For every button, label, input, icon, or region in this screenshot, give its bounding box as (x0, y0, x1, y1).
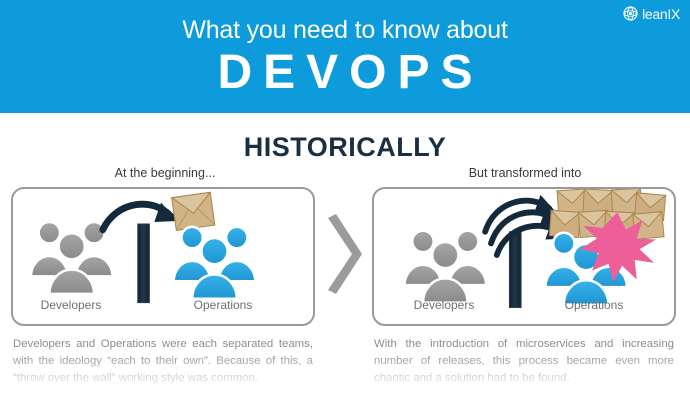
chevron-right-icon (326, 212, 370, 296)
historically-after-panel: Developers Operations (372, 187, 676, 326)
header-band: leanIX What you need to know about DEVOP… (0, 0, 690, 113)
devops-infographic-slide: leanIX What you need to know about DEVOP… (0, 0, 690, 401)
after-developers-label: Developers (394, 298, 494, 312)
operations-figures (174, 227, 256, 299)
after-operations-label: Operations (539, 298, 649, 312)
historically-before-panel: Developers Operations (11, 187, 315, 326)
before-operations-label: Operations (168, 298, 278, 312)
before-caption: At the beginning... (10, 167, 320, 180)
before-developers-label: Developers (21, 298, 121, 312)
header-title: DEVOPS (0, 48, 690, 98)
section-title: HISTORICALLY (0, 134, 690, 161)
wall-bar (509, 232, 521, 308)
header-subtitle: What you need to know about (0, 18, 690, 43)
developers-figures (405, 231, 487, 303)
developers-figures (31, 222, 113, 294)
envelope-icon (172, 192, 215, 230)
before-paragraph: Developers and Operations were each sepa… (13, 336, 313, 386)
after-paragraph: With the introduction of microservices a… (374, 336, 674, 386)
wall-bar (138, 224, 150, 303)
after-caption: But transformed into (370, 167, 680, 180)
after-paragraph-text: With the introduction of microservices a… (374, 336, 674, 386)
before-paragraph-text: Developers and Operations were each sepa… (13, 336, 313, 386)
